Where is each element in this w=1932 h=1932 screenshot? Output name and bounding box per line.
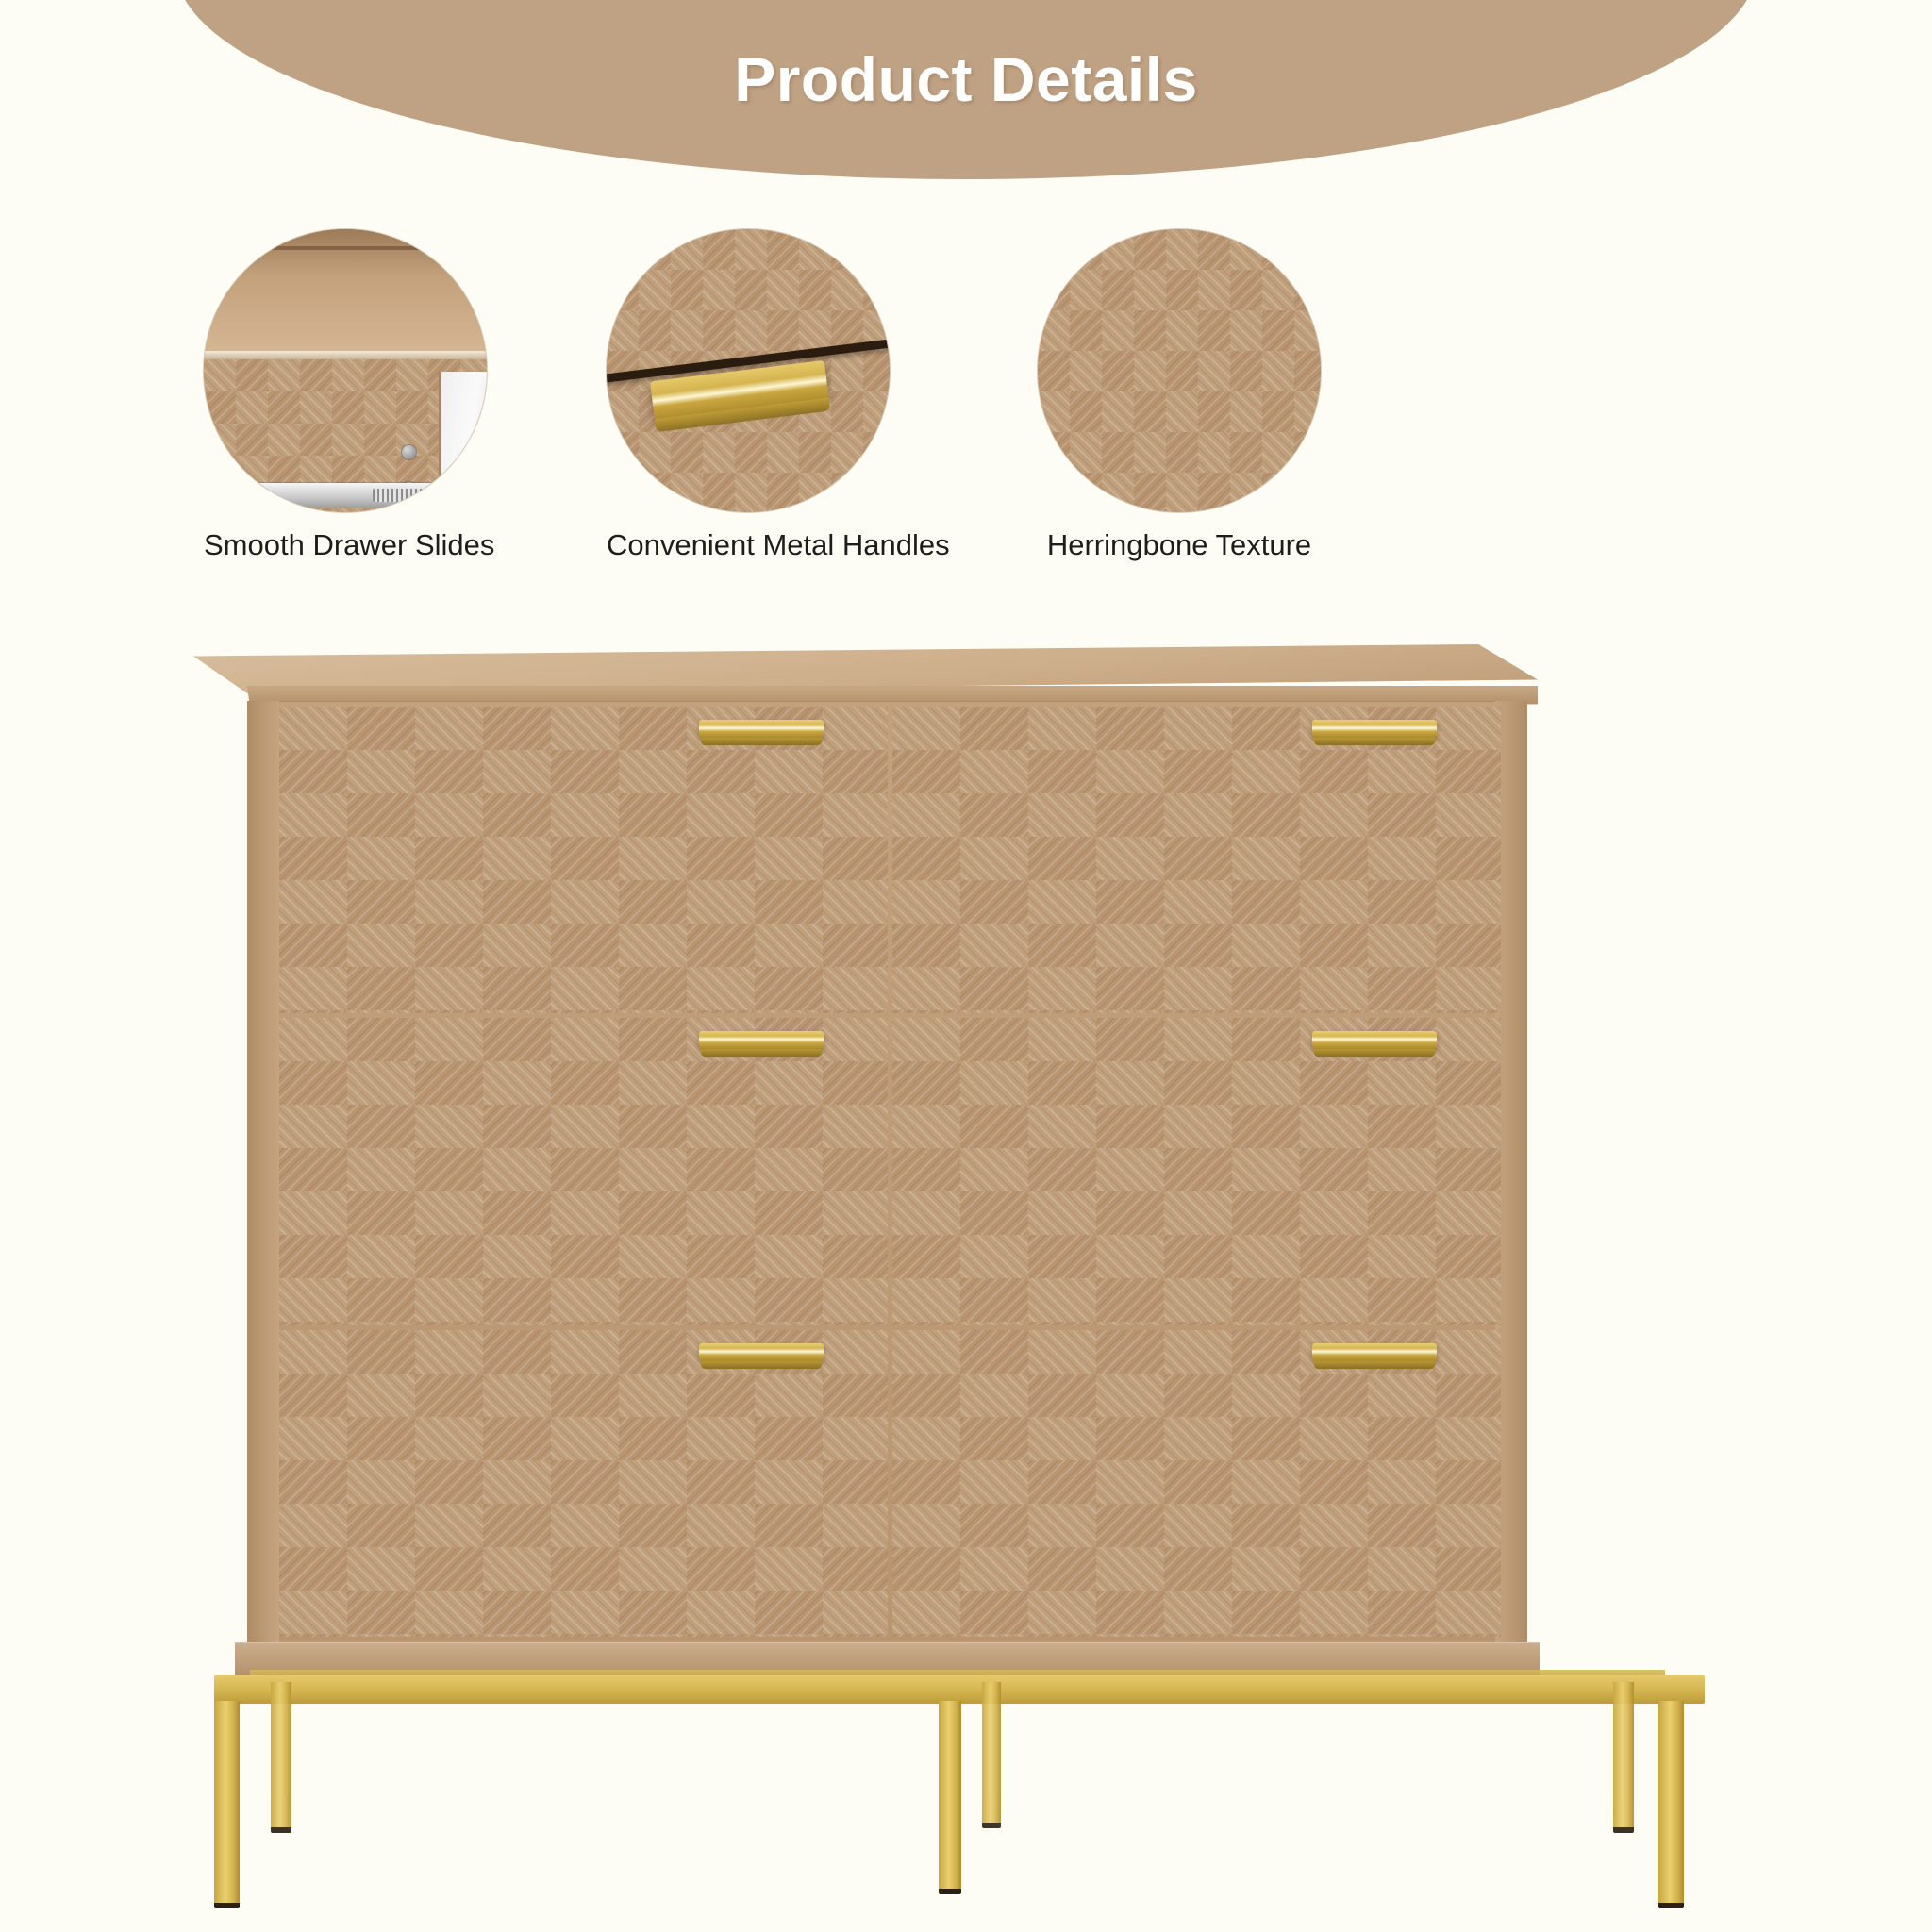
veneer-block xyxy=(1368,1547,1436,1591)
veneer-block xyxy=(960,1322,1028,1324)
herringbone-fill xyxy=(892,707,1501,1013)
veneer-block xyxy=(1164,1547,1232,1591)
veneer-block xyxy=(1164,1591,1232,1634)
drawer-handle-icon[interactable] xyxy=(699,720,824,739)
veneer-block xyxy=(415,880,483,924)
veneer-block xyxy=(483,1191,551,1235)
veneer-block xyxy=(300,359,332,391)
veneer-block xyxy=(1070,351,1102,391)
drawer-row1-left[interactable] xyxy=(279,707,888,1013)
veneer-block xyxy=(1300,1460,1368,1504)
veneer-block xyxy=(1232,1235,1300,1278)
dresser-carcass xyxy=(247,701,1527,1644)
veneer-block xyxy=(755,1235,823,1278)
veneer-block xyxy=(1300,924,1368,967)
veneer-block xyxy=(551,750,619,793)
veneer-block xyxy=(268,391,300,424)
veneer-block xyxy=(1164,1235,1232,1278)
veneer-block xyxy=(1166,473,1198,512)
drawer-handle-icon[interactable] xyxy=(1312,1031,1437,1050)
drawer-handle-icon[interactable] xyxy=(699,1031,824,1050)
veneer-block xyxy=(1300,1417,1368,1460)
veneer-block xyxy=(1230,270,1262,310)
veneer-block xyxy=(551,924,619,967)
veneer-block xyxy=(415,1374,483,1417)
veneer-block xyxy=(1198,473,1230,512)
veneer-block xyxy=(1300,1235,1368,1278)
veneer-block xyxy=(1230,391,1262,432)
veneer-block xyxy=(1230,351,1262,391)
veneer-block xyxy=(551,1278,619,1322)
veneer-block xyxy=(1070,432,1102,473)
veneer-block xyxy=(671,310,703,351)
veneer-block xyxy=(892,1634,960,1637)
veneer-block xyxy=(1096,1018,1164,1061)
veneer-block xyxy=(687,1591,755,1634)
veneer-block xyxy=(279,707,347,750)
veneer-block xyxy=(1164,1105,1232,1148)
veneer-block xyxy=(1232,793,1300,837)
veneer-block xyxy=(1164,1322,1232,1324)
veneer-block xyxy=(823,793,888,837)
veneer-block xyxy=(396,391,428,424)
veneer-block xyxy=(551,967,619,1010)
veneer-block xyxy=(823,1634,888,1637)
veneer-block xyxy=(823,967,888,1010)
veneer-block xyxy=(1368,1105,1436,1148)
veneer-block xyxy=(1232,1547,1300,1591)
veneer-block xyxy=(892,707,960,750)
veneer-block xyxy=(892,793,960,837)
veneer-block xyxy=(619,707,687,750)
drawer-front-panel xyxy=(204,359,487,512)
veneer-block xyxy=(347,1105,415,1148)
header-banner: Product Details xyxy=(0,0,1932,189)
veneer-block xyxy=(619,1634,687,1637)
veneer-block xyxy=(483,750,551,793)
drawer-row xyxy=(279,1018,1501,1324)
veneer-block xyxy=(960,750,1028,793)
veneer-block xyxy=(639,473,671,512)
veneer-block xyxy=(551,1460,619,1504)
veneer-block xyxy=(279,1504,347,1547)
veneer-block xyxy=(1096,1105,1164,1148)
veneer-block xyxy=(1368,1460,1436,1504)
veneer-block xyxy=(960,967,1028,1010)
veneer-block xyxy=(1230,310,1262,351)
veneer-block xyxy=(892,967,960,1010)
veneer-block xyxy=(607,432,639,473)
veneer-block xyxy=(236,424,268,456)
veneer-block xyxy=(1102,432,1134,473)
veneer-block xyxy=(279,1322,347,1324)
veneer-block xyxy=(639,229,671,270)
veneer-block xyxy=(347,1460,415,1504)
herringbone-grain-photo-icon xyxy=(1038,229,1321,512)
leg-back-left xyxy=(271,1682,291,1828)
veneer-block xyxy=(1038,473,1070,512)
veneer-block xyxy=(619,967,687,1010)
veneer-block xyxy=(1028,1374,1096,1417)
veneer-block xyxy=(1232,1417,1300,1460)
veneer-block xyxy=(1232,1374,1300,1417)
veneer-block xyxy=(1368,1148,1436,1191)
veneer-block xyxy=(639,270,671,310)
veneer-block xyxy=(1232,967,1300,1010)
veneer-block xyxy=(619,1148,687,1191)
veneer-block xyxy=(687,924,755,967)
veneer-block xyxy=(1198,270,1230,310)
veneer-block xyxy=(415,1591,483,1634)
veneer-block xyxy=(1368,1417,1436,1460)
page-title: Product Details xyxy=(0,43,1932,115)
veneer-block xyxy=(551,1417,619,1460)
veneer-block xyxy=(892,1278,960,1322)
product-image-dresser xyxy=(193,644,1726,1824)
veneer-block xyxy=(823,1061,888,1105)
veneer-block xyxy=(755,924,823,967)
detail-item-smooth-drawer-slides[interactable] xyxy=(204,229,487,512)
veneer-block xyxy=(1096,750,1164,793)
veneer-block xyxy=(823,707,888,750)
veneer-block xyxy=(1164,1018,1232,1061)
veneer-block xyxy=(1096,1191,1164,1235)
veneer-block xyxy=(607,391,639,432)
veneer-block xyxy=(755,1322,823,1324)
veneer-block xyxy=(619,1591,687,1634)
veneer-block xyxy=(892,1235,960,1278)
veneer-block xyxy=(1028,1460,1096,1504)
veneer-block xyxy=(1028,1018,1096,1061)
veneer-block xyxy=(735,270,767,310)
veneer-block xyxy=(1436,1018,1501,1061)
veneer-block xyxy=(619,1417,687,1460)
veneer-block xyxy=(703,270,735,310)
veneer-block xyxy=(755,967,823,1010)
veneer-block xyxy=(619,1061,687,1105)
veneer-block xyxy=(1038,351,1070,391)
veneer-block xyxy=(364,424,396,456)
veneer-block xyxy=(755,1417,823,1460)
veneer-block xyxy=(364,359,396,391)
veneer-block xyxy=(1300,880,1368,924)
veneer-block xyxy=(483,1105,551,1148)
veneer-block xyxy=(831,432,863,473)
veneer-block xyxy=(347,1061,415,1105)
veneer-block xyxy=(332,424,364,456)
veneer-block xyxy=(960,1330,1028,1374)
veneer-block xyxy=(639,432,671,473)
shelf-shadow-line xyxy=(204,246,487,250)
veneer-block xyxy=(799,432,831,473)
drawer-handle-icon[interactable] xyxy=(699,1343,824,1362)
veneer-block xyxy=(1232,1330,1300,1374)
veneer-block xyxy=(767,432,799,473)
veneer-block xyxy=(823,1504,888,1547)
veneer-block xyxy=(1232,1018,1300,1061)
veneer-block xyxy=(347,924,415,967)
veneer-block xyxy=(1262,391,1294,432)
veneer-block xyxy=(1164,793,1232,837)
veneer-block xyxy=(1300,967,1368,1010)
veneer-block xyxy=(1232,924,1300,967)
veneer-block xyxy=(415,1010,483,1013)
veneer-block xyxy=(767,270,799,310)
veneer-block xyxy=(347,793,415,837)
veneer-block xyxy=(551,707,619,750)
veneer-block xyxy=(1230,229,1262,270)
veneer-block xyxy=(1164,1061,1232,1105)
veneer-block xyxy=(1102,351,1134,391)
veneer-block xyxy=(1164,1460,1232,1504)
leg-front-left xyxy=(214,1701,240,1904)
veneer-block xyxy=(892,1417,960,1460)
veneer-block xyxy=(415,1191,483,1235)
open-drawer-photo-icon xyxy=(204,229,487,512)
veneer-block xyxy=(1300,1191,1368,1235)
drawer-row2-left[interactable] xyxy=(279,1018,888,1324)
veneer-block xyxy=(1294,391,1321,432)
veneer-block xyxy=(551,880,619,924)
veneer-block xyxy=(1028,1061,1096,1105)
veneer-block xyxy=(1368,1235,1436,1278)
veneer-block xyxy=(892,1322,960,1324)
veneer-block xyxy=(687,837,755,880)
veneer-block xyxy=(1436,750,1501,793)
veneer-block xyxy=(960,1278,1028,1322)
veneer-block xyxy=(1300,1148,1368,1191)
veneer-block xyxy=(1096,1330,1164,1374)
drawer-top-edge xyxy=(204,351,487,359)
veneer-block xyxy=(1096,1278,1164,1322)
herringbone-fill xyxy=(892,1330,1501,1637)
veneer-block xyxy=(1368,1374,1436,1417)
veneer-block xyxy=(831,229,863,270)
veneer-block xyxy=(347,1235,415,1278)
veneer-block xyxy=(483,1460,551,1504)
veneer-block xyxy=(1134,270,1166,310)
detail-caption-herringbone-texture: Herringbone Texture xyxy=(1038,528,1321,562)
veneer-block xyxy=(347,1322,415,1324)
veneer-block xyxy=(1436,967,1501,1010)
veneer-block xyxy=(687,1061,755,1105)
veneer-block xyxy=(1038,270,1070,310)
veneer-block xyxy=(960,1105,1028,1148)
drawer-row3-left[interactable] xyxy=(279,1330,888,1637)
veneer-block xyxy=(1232,1591,1300,1634)
veneer-block xyxy=(687,1191,755,1235)
veneer-block xyxy=(735,310,767,351)
veneer-block xyxy=(892,1374,960,1417)
veneer-block xyxy=(687,1105,755,1148)
veneer-block xyxy=(863,229,890,270)
veneer-block xyxy=(279,1105,347,1148)
veneer-block xyxy=(863,270,890,310)
veneer-block xyxy=(1436,1105,1501,1148)
veneer-block xyxy=(1134,310,1166,351)
veneer-block xyxy=(332,359,364,391)
veneer-block xyxy=(1038,310,1070,351)
veneer-block xyxy=(703,473,735,512)
veneer-block xyxy=(823,1018,888,1061)
veneer-block xyxy=(1070,310,1102,351)
veneer-block xyxy=(687,750,755,793)
veneer-block xyxy=(755,1591,823,1634)
veneer-block xyxy=(347,880,415,924)
veneer-block xyxy=(1368,837,1436,880)
veneer-block xyxy=(1436,880,1501,924)
veneer-block xyxy=(1436,793,1501,837)
veneer-block xyxy=(823,1105,888,1148)
drawer-cavity xyxy=(204,229,487,354)
veneer-block xyxy=(415,924,483,967)
veneer-block xyxy=(1262,473,1294,512)
veneer-block xyxy=(892,1460,960,1504)
veneer-block xyxy=(483,1417,551,1460)
veneer-block xyxy=(483,1018,551,1061)
veneer-block xyxy=(347,707,415,750)
herringbone-fill xyxy=(1038,229,1321,512)
veneer-block xyxy=(1038,391,1070,432)
veneer-block xyxy=(300,424,332,456)
veneer-block xyxy=(1232,1322,1300,1324)
veneer-block xyxy=(687,880,755,924)
veneer-block xyxy=(551,1504,619,1547)
veneer-block xyxy=(863,473,890,512)
veneer-block xyxy=(1294,432,1321,473)
veneer-block xyxy=(863,391,890,432)
veneer-block xyxy=(1368,1322,1436,1324)
veneer-block xyxy=(1300,1504,1368,1547)
veneer-block xyxy=(1134,391,1166,432)
veneer-block xyxy=(1134,473,1166,512)
veneer-block xyxy=(551,1061,619,1105)
veneer-block xyxy=(551,1105,619,1148)
veneer-block xyxy=(551,1148,619,1191)
veneer-block xyxy=(619,924,687,967)
detail-item-herringbone-texture[interactable] xyxy=(1038,229,1321,512)
drawer-row2-right[interactable] xyxy=(892,1018,1501,1324)
veneer-block xyxy=(1232,1278,1300,1322)
veneer-block xyxy=(483,1374,551,1417)
veneer-block xyxy=(1096,1634,1164,1637)
veneer-block xyxy=(823,1148,888,1191)
veneer-block xyxy=(483,1591,551,1634)
veneer-block xyxy=(1368,1634,1436,1637)
veneer-block xyxy=(755,1105,823,1148)
drawer-row3-right[interactable] xyxy=(892,1330,1501,1637)
detail-highlights-row xyxy=(0,229,1932,522)
veneer-block xyxy=(551,1010,619,1013)
veneer-block xyxy=(1436,1417,1501,1460)
veneer-block xyxy=(279,1010,347,1013)
veneer-block xyxy=(483,1547,551,1591)
veneer-block xyxy=(347,1634,415,1637)
veneer-block xyxy=(415,707,483,750)
veneer-block xyxy=(1070,270,1102,310)
veneer-block xyxy=(1028,1634,1096,1637)
veneer-block xyxy=(1028,924,1096,967)
veneer-block xyxy=(639,310,671,351)
veneer-block xyxy=(892,880,960,924)
veneer-block xyxy=(1436,707,1501,750)
veneer-block xyxy=(415,1460,483,1504)
veneer-block xyxy=(483,1148,551,1191)
carcass-left-panel xyxy=(247,701,279,1644)
veneer-block xyxy=(1134,432,1166,473)
veneer-block xyxy=(1164,880,1232,924)
veneer-block xyxy=(703,229,735,270)
veneer-block xyxy=(1102,310,1134,351)
drawer-row1-right[interactable] xyxy=(892,707,1501,1013)
veneer-block xyxy=(1096,1591,1164,1634)
veneer-block xyxy=(687,1634,755,1637)
veneer-block xyxy=(551,793,619,837)
veneer-block xyxy=(1198,432,1230,473)
veneer-block xyxy=(415,967,483,1010)
veneer-block xyxy=(483,1061,551,1105)
veneer-block xyxy=(823,1547,888,1591)
veneer-block xyxy=(960,837,1028,880)
veneer-block xyxy=(347,837,415,880)
veneer-block xyxy=(279,924,347,967)
drawer-row xyxy=(279,1330,1501,1637)
veneer-block xyxy=(960,1018,1028,1061)
veneer-block xyxy=(415,1148,483,1191)
drawer-handle-icon[interactable] xyxy=(1312,720,1437,739)
veneer-block xyxy=(1262,310,1294,351)
drawer-side-wall xyxy=(439,372,487,512)
veneer-block xyxy=(1096,1417,1164,1460)
veneer-block xyxy=(671,432,703,473)
veneer-block xyxy=(1232,707,1300,750)
veneer-block xyxy=(823,1330,888,1374)
veneer-block xyxy=(1300,793,1368,837)
veneer-block xyxy=(1436,1504,1501,1547)
veneer-block xyxy=(1096,1235,1164,1278)
veneer-block xyxy=(960,707,1028,750)
veneer-block xyxy=(619,1374,687,1417)
veneer-block xyxy=(1436,1278,1501,1322)
drawer-handle-icon[interactable] xyxy=(1312,1343,1437,1362)
veneer-block xyxy=(1166,351,1198,391)
veneer-block xyxy=(1164,750,1232,793)
veneer-block xyxy=(619,837,687,880)
veneer-block xyxy=(268,424,300,456)
veneer-block xyxy=(892,924,960,967)
veneer-block xyxy=(755,1278,823,1322)
veneer-block xyxy=(1294,270,1321,310)
veneer-block xyxy=(735,473,767,512)
veneer-block xyxy=(1028,1417,1096,1460)
veneer-block xyxy=(1164,1374,1232,1417)
veneer-block xyxy=(831,473,863,512)
veneer-block xyxy=(823,1235,888,1278)
veneer-block xyxy=(767,473,799,512)
leg-mid-back xyxy=(982,1682,1001,1824)
veneer-block xyxy=(687,1148,755,1191)
veneer-block xyxy=(236,359,268,391)
veneer-block xyxy=(279,1591,347,1634)
veneer-block xyxy=(1164,837,1232,880)
veneer-block xyxy=(236,391,268,424)
detail-item-convenient-metal-handles[interactable] xyxy=(607,229,890,512)
veneer-block xyxy=(823,837,888,880)
veneer-block xyxy=(204,424,236,456)
veneer-block xyxy=(1164,1504,1232,1547)
veneer-block xyxy=(960,1235,1028,1278)
veneer-block xyxy=(607,229,639,270)
